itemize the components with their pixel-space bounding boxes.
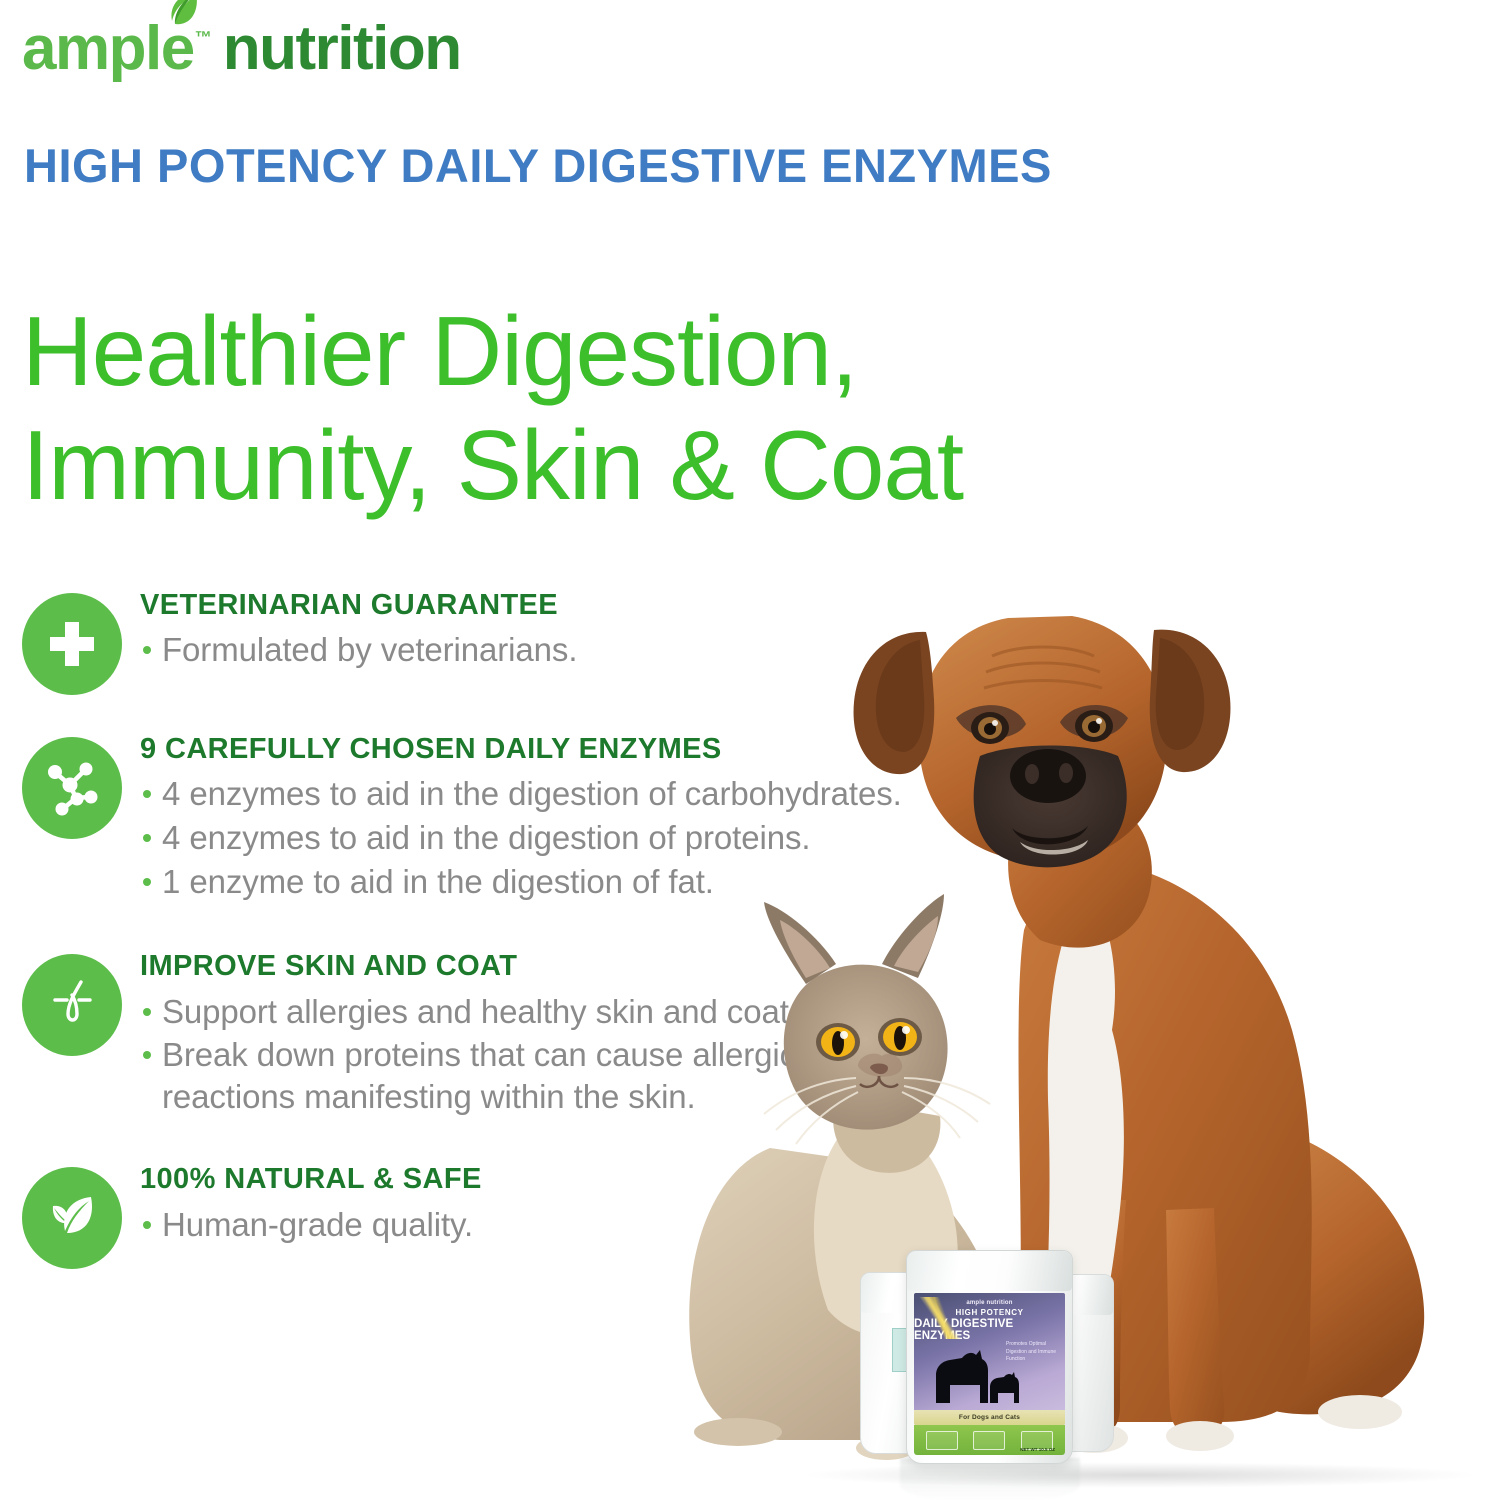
label-audience-band: For Dogs and Cats — [914, 1410, 1065, 1425]
medical-cross-icon — [22, 593, 122, 695]
label-net-weight: NET WT 10.5 OZ — [1020, 1447, 1055, 1452]
product-subheading: HIGH POTENCY DAILY DIGESTIVE ENZYMES — [24, 135, 1052, 197]
page-title: Healthier Digestion, Immunity, Skin & Co… — [22, 295, 963, 522]
label-badge — [973, 1431, 1005, 1450]
product-jars: ample nutrition HIGH POTENCY DAILY DIGES… — [860, 1250, 1120, 1480]
label-badge — [926, 1431, 958, 1450]
jar-label: ample nutrition HIGH POTENCY DAILY DIGES… — [914, 1293, 1065, 1425]
label-sunburst — [914, 1297, 976, 1339]
product-hero-imagery: ample nutrition HIGH POTENCY DAILY DIGES… — [620, 560, 1500, 1500]
brand-logo: ample ™ nutrition — [22, 18, 461, 80]
dog-and-cat-silhouette-icon — [928, 1345, 1028, 1407]
jar-lid — [907, 1251, 1072, 1291]
hair-follicle-icon — [22, 954, 122, 1056]
jar-green-footer: NET WT 10.5 OZ — [914, 1425, 1065, 1455]
brand-name-nutrition: nutrition — [223, 18, 461, 80]
molecule-icon — [22, 737, 122, 839]
marketing-infographic: ample ™ nutrition HIGH POTENCY DAILY DIG… — [0, 0, 1500, 1500]
jar-reflection — [900, 1458, 1080, 1500]
leaves-icon — [22, 1167, 122, 1269]
trademark-symbol: ™ — [195, 28, 212, 48]
jar-front: ample nutrition HIGH POTENCY DAILY DIGES… — [906, 1250, 1073, 1464]
